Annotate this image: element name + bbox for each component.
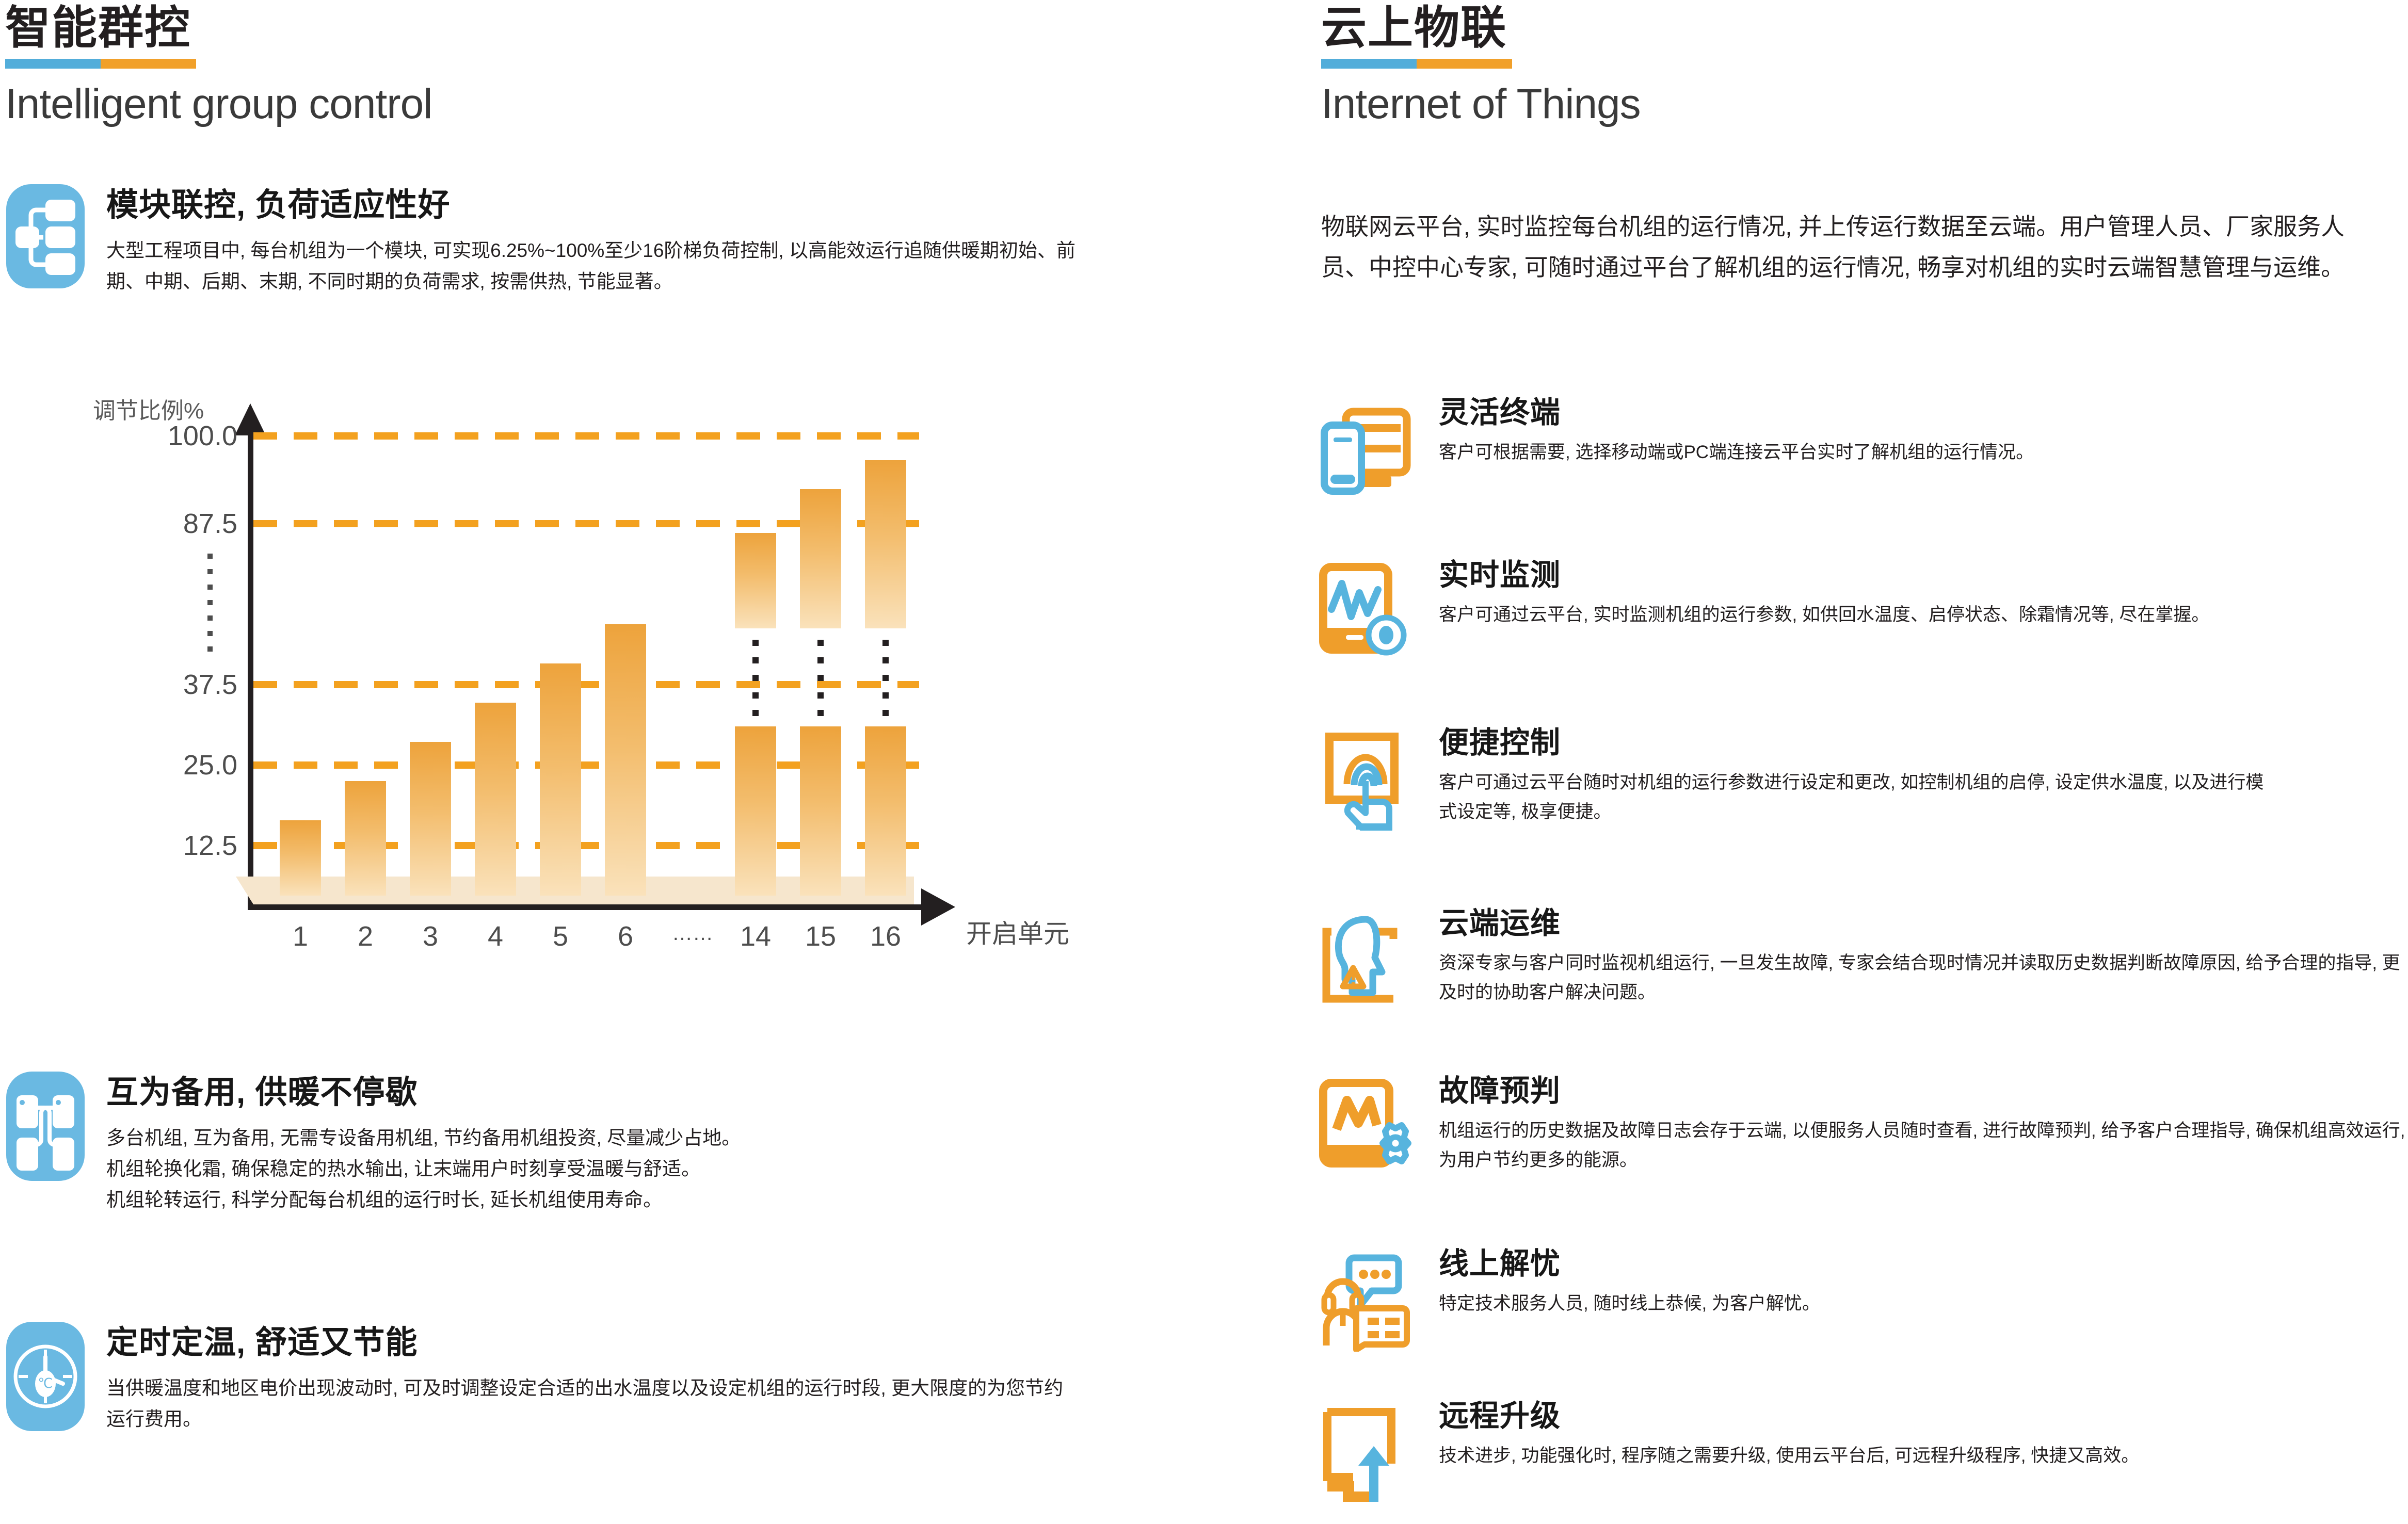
chart-x-axis-line xyxy=(248,904,924,910)
chart-xtick-1: 1 xyxy=(293,920,308,952)
chart-bar-3 xyxy=(410,742,451,896)
chart-bar-6 xyxy=(605,624,646,896)
iot-item-online-support-title: 线上解忧 xyxy=(1439,1249,2408,1280)
feature-mutual-backup-desc: 多台机组, 互为备用, 无需专设备用机组, 节约备用机组投资, 尽量减少占地。 … xyxy=(106,1123,1077,1215)
chart-plot-area: 100.0 87.5 37.5 25.0 12.5 xyxy=(248,432,981,948)
right-section-header: 云上物联 Internet of Things xyxy=(1321,5,1641,125)
feature-timed-temperature-desc: 当供暖温度和地区电价出现波动时, 可及时调整设定合适的出水温度以及设定机组的运行… xyxy=(106,1373,1077,1435)
iot-item-fault-prediction: 故障预判 机组运行的历史数据及故障日志会存于云端, 以便服务人员随时查看, 进行… xyxy=(1316,1076,2408,1179)
iot-item-realtime-monitoring-body: 实时监测 客户可通过云平台, 实时监测机组的运行参数, 如供回水温度、启停状态、… xyxy=(1439,560,2408,630)
chart-gridline-100 xyxy=(253,432,919,440)
iot-item-flexible-terminal-desc: 客户可根据需要, 选择移动端或PC端连接云平台实时了解机组的运行情况。 xyxy=(1439,438,2378,467)
iot-item-realtime-monitoring-title: 实时监测 xyxy=(1439,560,2408,591)
iot-intro-paragraph: 物联网云平台, 实时监控每台机组的运行情况, 并上传运行数据至云端。用户管理人员… xyxy=(1321,206,2384,288)
chart-xtick-4: 4 xyxy=(488,920,503,952)
iot-item-flexible-terminal-body: 灵活终端 客户可根据需要, 选择移动端或PC端连接云平台实时了解机组的运行情况。 xyxy=(1439,397,2408,467)
chart-ytick-37_5: 37.5 xyxy=(183,669,237,701)
chart-x-axis-title: 开启单元 xyxy=(966,913,1069,950)
feature-mutual-backup-title: 互为备用, 供暖不停歇 xyxy=(106,1076,1135,1109)
monitor-waveform-eye-icon xyxy=(1316,560,1419,663)
iot-item-flexible-terminal: 灵活终端 客户可根据需要, 选择移动端或PC端连接云平台实时了解机组的运行情况。 xyxy=(1316,397,2408,500)
chart-bar-1 xyxy=(280,820,321,896)
chart-bar-4 xyxy=(475,703,516,896)
svg-text:℃: ℃ xyxy=(38,1375,53,1391)
iot-item-cloud-ops: 云端运维 资深专家与客户同时监视机组运行, 一旦发生故障, 专家会结合现时情况并… xyxy=(1316,908,2408,1011)
chart-bar-16-lower xyxy=(865,726,906,896)
chart-bar-16-upper xyxy=(865,460,906,628)
rule-orange-segment xyxy=(1417,59,1512,69)
iot-item-convenient-control-title: 便捷控制 xyxy=(1439,727,2408,759)
left-title-rule xyxy=(5,59,196,69)
chart-ytick-100: 100.0 xyxy=(168,420,237,452)
chart-bar-15-lower xyxy=(800,726,841,896)
feature-module-linkage-body: 模块联控, 负荷适应性好 大型工程项目中, 每台机组为一个模块, 可实现6.25… xyxy=(106,183,1135,297)
chart-y-axis-arrow xyxy=(235,403,266,435)
left-column: 智能群控 Intelligent group control xyxy=(0,0,1301,1524)
iot-item-online-support-body: 线上解忧 特定技术服务人员, 随时线上恭候, 为客户解忧。 xyxy=(1439,1249,2408,1319)
iot-item-remote-upgrade-body: 远程升级 技术进步, 功能强化时, 程序随之需要升级, 使用云平台后, 可远程升… xyxy=(1439,1401,2408,1471)
iot-item-cloud-ops-title: 云端运维 xyxy=(1439,908,2408,939)
chart-xtick-2: 2 xyxy=(358,920,373,952)
chart-xtick-ellipsis: …… xyxy=(672,922,713,945)
iot-item-convenient-control-desc: 客户可通过云平台随时对机组的运行参数进行设定和更改, 如控制机组的启停, 设定供… xyxy=(1439,768,2275,826)
iot-item-remote-upgrade-title: 远程升级 xyxy=(1439,1401,2408,1432)
feature-timed-temperature-title: 定时定温, 舒适又节能 xyxy=(106,1326,1135,1359)
iot-item-realtime-monitoring-desc: 客户可通过云平台, 实时监测机组的运行参数, 如供回水温度、启停状态、除霜情况等… xyxy=(1439,601,2408,630)
feature-module-linkage-desc: 大型工程项目中, 每台机组为一个模块, 可实现6.25%~100%至少16阶梯负… xyxy=(106,235,1077,297)
chart-bar-15-upper xyxy=(800,489,841,628)
iot-item-fault-prediction-desc: 机组运行的历史数据及故障日志会存于云端, 以便服务人员随时查看, 进行故障预判,… xyxy=(1439,1116,2408,1175)
feature-timed-temperature: ℃ 定时定温, 舒适又节能 当供暖温度和地区电价出现波动时, 可及时调整设定合适… xyxy=(5,1321,1135,1435)
screen-chart-gear-icon xyxy=(1316,1076,1419,1179)
module-network-icon xyxy=(5,183,86,289)
chart-xtick-16: 16 xyxy=(870,920,901,952)
chart-xtick-3: 3 xyxy=(423,920,438,952)
feature-mutual-backup-body: 互为备用, 供暖不停歇 多台机组, 互为备用, 无需专设备用机组, 节约备用机组… xyxy=(106,1071,1135,1215)
iot-item-online-support-desc: 特定技术服务人员, 随时线上恭候, 为客户解忧。 xyxy=(1439,1289,2316,1319)
chart-bar-16-break-dots xyxy=(882,640,889,717)
chart-bar-14-lower xyxy=(735,726,776,896)
chart-ytick-87_5: 87.5 xyxy=(183,508,237,540)
chart-x-axis-arrow xyxy=(921,888,955,926)
chart-y-axis-break-dots xyxy=(207,554,213,652)
left-section-header: 智能群控 Intelligent group control xyxy=(5,5,432,125)
touch-screen-finger-icon xyxy=(1316,727,1419,831)
chart-y-axis-line xyxy=(248,432,253,910)
right-title-rule xyxy=(1321,59,1512,69)
chart-xtick-5: 5 xyxy=(553,920,568,952)
headset-agent-chat-icon xyxy=(1316,1249,1419,1352)
right-column: 云上物联 Internet of Things 物联网云平台, 实时监控每台机组… xyxy=(1316,0,2408,1524)
mutual-backup-icon xyxy=(5,1071,86,1182)
left-title-en: Intelligent group control xyxy=(5,83,432,125)
iot-item-convenient-control: 便捷控制 客户可通过云平台随时对机组的运行参数进行设定和更改, 如控制机组的启停… xyxy=(1316,727,2408,831)
chart-ytick-12_5: 12.5 xyxy=(183,830,237,862)
load-step-chart: 调节比例% 100.0 87.5 37.5 25.0 12.5 xyxy=(77,392,1017,1006)
expert-head-alert-icon xyxy=(1316,908,1419,1011)
screen-upload-arrow-icon xyxy=(1316,1401,1419,1504)
iot-item-cloud-ops-body: 云端运维 资深专家与客户同时监视机组运行, 一旦发生故障, 专家会结合现时情况并… xyxy=(1439,908,2408,1007)
iot-item-fault-prediction-title: 故障预判 xyxy=(1439,1076,2408,1107)
iot-item-fault-prediction-body: 故障预判 机组运行的历史数据及故障日志会存于云端, 以便服务人员随时查看, 进行… xyxy=(1439,1076,2408,1175)
chart-xtick-15: 15 xyxy=(805,920,836,952)
feature-module-linkage-title: 模块联控, 负荷适应性好 xyxy=(106,188,1135,222)
chart-ytick-25: 25.0 xyxy=(183,749,237,781)
phone-tablet-icon xyxy=(1316,397,1419,500)
chart-xtick-6: 6 xyxy=(618,920,633,952)
iot-item-remote-upgrade-desc: 技术进步, 功能强化时, 程序随之需要升级, 使用云平台后, 可远程升级程序, … xyxy=(1439,1441,2408,1471)
right-title-en: Internet of Things xyxy=(1321,83,1641,125)
feature-mutual-backup: 互为备用, 供暖不停歇 多台机组, 互为备用, 无需专设备用机组, 节约备用机组… xyxy=(5,1071,1135,1215)
chart-bar-5 xyxy=(540,663,581,896)
left-title-cn: 智能群控 xyxy=(5,5,432,51)
iot-item-realtime-monitoring: 实时监测 客户可通过云平台, 实时监测机组的运行参数, 如供回水温度、启停状态、… xyxy=(1316,560,2408,663)
rule-blue-segment xyxy=(1321,59,1417,69)
chart-bar-14-upper xyxy=(735,533,776,628)
rule-blue-segment xyxy=(5,59,101,69)
clock-temperature-icon: ℃ xyxy=(5,1321,86,1432)
chart-bar-2 xyxy=(345,781,386,896)
feature-module-linkage: 模块联控, 负荷适应性好 大型工程项目中, 每台机组为一个模块, 可实现6.25… xyxy=(5,183,1135,297)
iot-item-online-support: 线上解忧 特定技术服务人员, 随时线上恭候, 为客户解忧。 xyxy=(1316,1249,2408,1352)
chart-xtick-14: 14 xyxy=(740,920,771,952)
iot-item-cloud-ops-desc: 资深专家与客户同时监视机组运行, 一旦发生故障, 专家会结合现时情况并读取历史数… xyxy=(1439,949,2408,1007)
feature-timed-temperature-body: 定时定温, 舒适又节能 当供暖温度和地区电价出现波动时, 可及时调整设定合适的出… xyxy=(106,1321,1135,1435)
rule-orange-segment xyxy=(101,59,196,69)
page-root: 智能群控 Intelligent group control xyxy=(0,0,2408,1524)
right-title-cn: 云上物联 xyxy=(1321,5,1641,51)
iot-item-convenient-control-body: 便捷控制 客户可通过云平台随时对机组的运行参数进行设定和更改, 如控制机组的启停… xyxy=(1439,727,2408,826)
iot-item-remote-upgrade: 远程升级 技术进步, 功能强化时, 程序随之需要升级, 使用云平台后, 可远程升… xyxy=(1316,1401,2408,1504)
iot-item-flexible-terminal-title: 灵活终端 xyxy=(1439,397,2408,429)
chart-bar-14-break-dots xyxy=(752,640,759,717)
chart-bar-15-break-dots xyxy=(817,640,824,717)
